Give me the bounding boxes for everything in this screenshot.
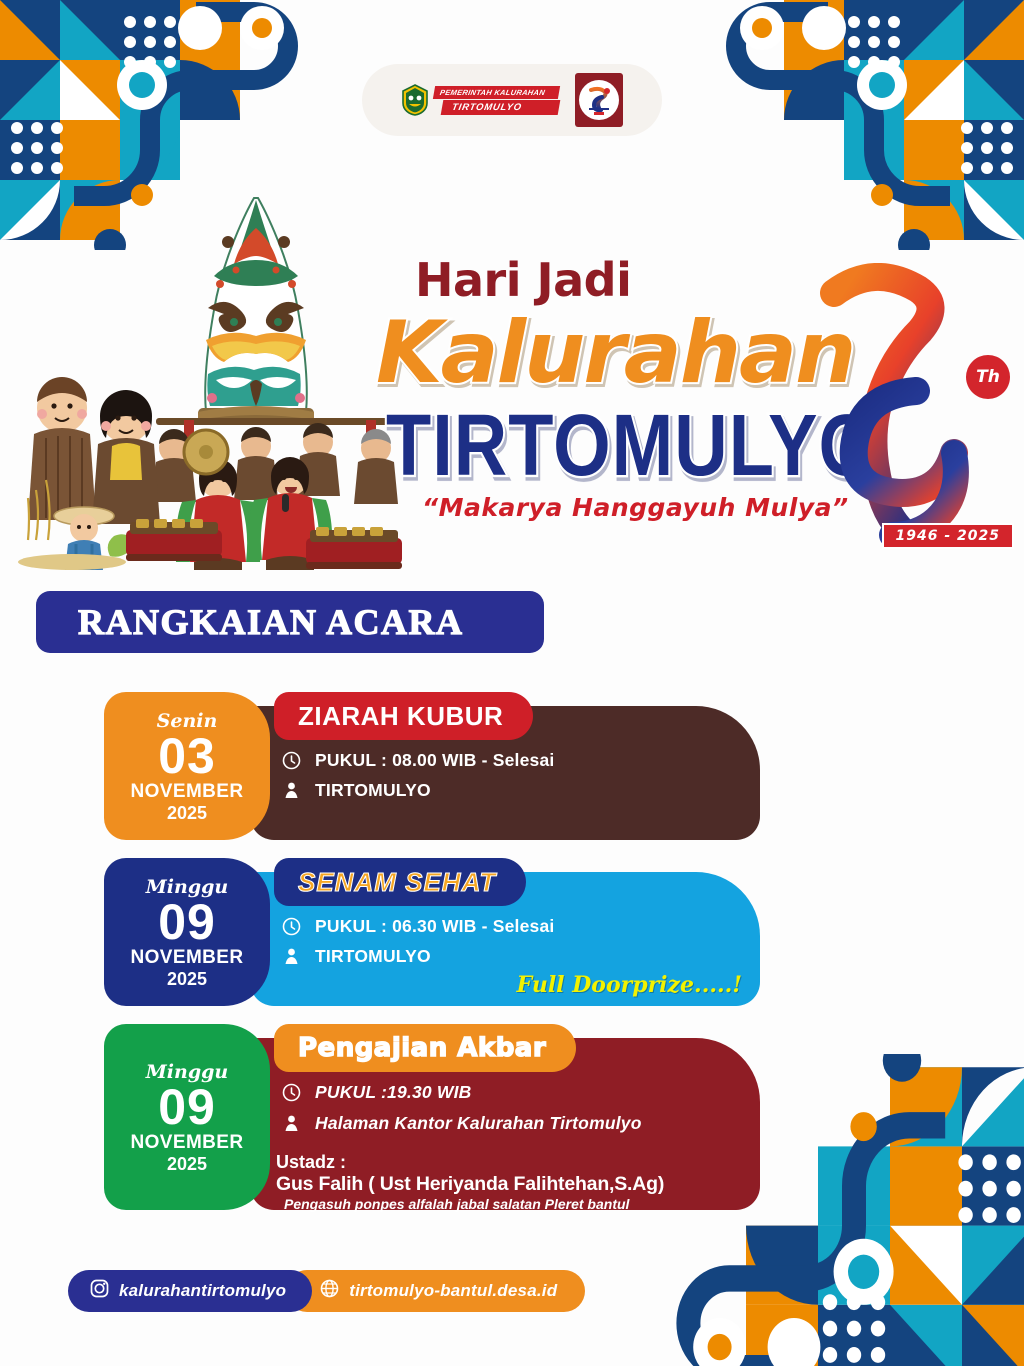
event-date-panel: Minggu 09 NOVEMBER 2025 [104,1024,270,1210]
event-title-tab: Pengajian Akbar [274,1024,576,1072]
event-month: NOVEMBER [131,1133,244,1154]
event-year: 2025 [167,1154,207,1175]
clock-icon [282,917,301,936]
event-month: NOVEMBER [131,782,244,803]
event-title-tab: ZIARAH KUBUR [274,692,533,740]
event-month: NOVEMBER [131,948,244,969]
event-details: PUKUL : 08.00 WIB - Selesai TIRTOMULYO [282,750,554,801]
location-pin-icon [282,781,301,800]
event-location-text: TIRTOMULYO [315,946,431,967]
location-pin-icon [282,1114,301,1133]
title-line-tirtomulyo: TIRTOMULYO [386,395,877,495]
clock-icon [282,751,301,770]
title-motto: “Makarya Hanggayuh Mulya” [422,493,849,522]
event-time-row: PUKUL : 08.00 WIB - Selesai [282,750,554,771]
instagram-pill[interactable]: kalurahantirtomulyo [68,1270,312,1312]
globe-icon [320,1279,339,1303]
anniversary-year-range: 1946 - 2025 [882,523,1015,549]
footer-contact-bar: kalurahantirtomulyo tirtomulyo-bantul.de… [68,1270,585,1312]
event-title: Pengajian Akbar [298,1033,546,1063]
javanese-gunungan-and-gamelan-illustration [6,180,426,570]
instagram-handle: kalurahantirtomulyo [119,1281,286,1301]
website-url: tirtomulyo-bantul.desa.id [349,1281,557,1301]
event-time-row: PUKUL : 06.30 WIB - Selesai [282,916,554,937]
title-eyebrow: Hari Jadi [415,253,631,307]
event-location-text: Halaman Kantor Kalurahan Tirtomulyo [315,1113,642,1134]
speaker-name: Gus Falih ( Ust Heriyanda Falihtehan,S.A… [276,1173,664,1196]
event-time-text: PUKUL :19.30 WIB [315,1082,472,1103]
location-pin-icon [282,947,301,966]
event-location-row: TIRTOMULYO [282,946,554,967]
event-note-doorprize: Full Doorprize.....! [517,972,742,998]
event-card[interactable]: Minggu 09 NOVEMBER 2025 Pengajian Akbar … [104,1024,760,1210]
event-card[interactable]: Minggu 09 NOVEMBER 2025 SENAM SEHAT PUKU… [104,858,760,1006]
instagram-icon [90,1279,109,1303]
event-year: 2025 [167,803,207,824]
clock-icon [282,1083,301,1102]
corner-pattern-top-right [724,0,1024,250]
event-date-number: 09 [158,1081,216,1134]
gov-logo-line1: PEMERINTAH KALURAHAN [433,86,560,99]
website-pill[interactable]: tirtomulyo-bantul.desa.id [286,1270,585,1312]
event-time-text: PUKUL : 08.00 WIB - Selesai [315,750,554,771]
event-details: PUKUL :19.30 WIB Halaman Kantor Kaluraha… [282,1082,642,1134]
anniversary-th-badge: Th [966,355,1010,399]
hut-79-emblem-icon [575,73,623,127]
speaker-subtitle: Pengasuh ponpes alfalah jabal salatan Pl… [276,1196,664,1212]
title-line-kalurahan: Kalurahan [376,303,854,403]
event-title: ZIARAH KUBUR [298,701,503,732]
anniversary-79-mark: Th 1946 - 2025 [812,263,1022,553]
event-title: SENAM SEHAT [298,867,496,898]
government-logo: PEMERINTAH KALURAHAN TIRTOMULYO [401,84,559,116]
section-banner-rangkaian-acara: RANGKAIAN ACARA [36,591,544,653]
section-banner-label: RANGKAIAN ACARA [78,601,464,643]
header-logo-bar: PEMERINTAH KALURAHAN TIRTOMULYO [362,64,662,136]
event-date-panel: Minggu 09 NOVEMBER 2025 [104,858,270,1006]
poster-root: PEMERINTAH KALURAHAN TIRTOMULYO [0,0,1024,1366]
event-time-row: PUKUL :19.30 WIB [282,1082,642,1103]
event-details: PUKUL : 06.30 WIB - Selesai TIRTOMULYO [282,916,554,967]
event-date-panel: Senin 03 NOVEMBER 2025 [104,692,270,840]
title-block: Hari Jadi Kalurahan TIRTOMULYO “Makarya … [390,245,1024,555]
event-time-text: PUKUL : 06.30 WIB - Selesai [315,916,554,937]
speaker-label: Ustadz : [276,1152,664,1173]
event-location-row: Halaman Kantor Kalurahan Tirtomulyo [282,1113,642,1134]
event-location-text: TIRTOMULYO [315,780,431,801]
event-location-row: TIRTOMULYO [282,780,554,801]
event-card[interactable]: Senin 03 NOVEMBER 2025 ZIARAH KUBUR PUKU… [104,692,760,840]
event-speaker-block: Ustadz : Gus Falih ( Ust Heriyanda Falih… [276,1152,664,1212]
bantul-regency-crest-icon [401,84,429,116]
event-date-number: 09 [158,896,216,949]
event-title-tab: SENAM SEHAT [274,858,526,906]
event-year: 2025 [167,969,207,990]
event-date-number: 03 [158,730,216,783]
gov-logo-line2: TIRTOMULYO [441,100,561,115]
